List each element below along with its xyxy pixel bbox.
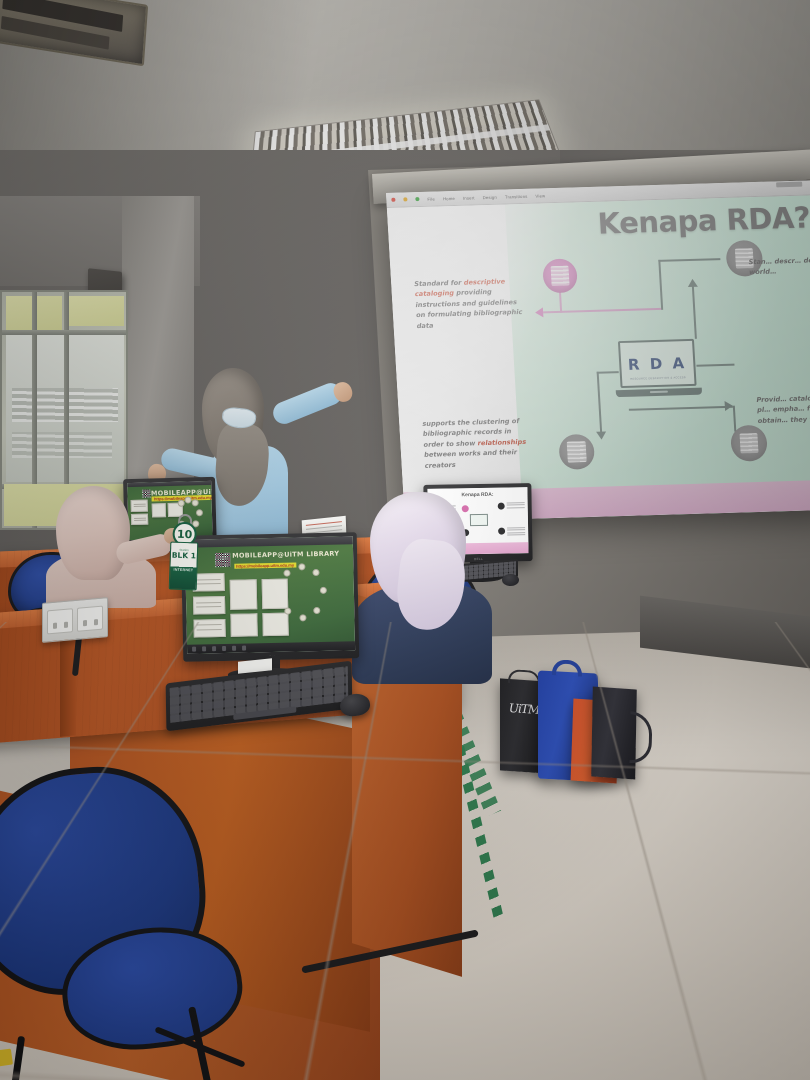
power-outlet-right[interactable] (77, 606, 103, 632)
poster-title-front: MOBILEAPP@UiTM LIBRARY (232, 549, 339, 559)
slide-text-left-bottom: supports the clustering of bibliographic… (422, 416, 533, 471)
foreground-chair[interactable] (0, 768, 238, 1073)
book-node-icon (730, 425, 768, 462)
slide-canvas: Kenapa RDA? R D A (387, 195, 810, 522)
seated-student-left (46, 486, 156, 596)
app-menu-home[interactable]: Home (443, 195, 455, 200)
desk-tag-body: Station BLK 1 INTERNET (169, 542, 199, 591)
app-window-controls[interactable] (776, 182, 802, 188)
slide-text-right-bottom: Provid… catalo… and pl… empha… find, i… … (756, 392, 810, 426)
dark-shopping-bag[interactable] (591, 687, 637, 780)
people-node-icon (558, 434, 595, 470)
student-left-hijab (56, 486, 130, 580)
uitm-bag-logo: UiTM (509, 701, 539, 717)
lab-photo-scene: File Home Insert Design Transitions View… (0, 0, 810, 1080)
seated-student-right (352, 492, 502, 682)
desk-number-tag: 10 Station BLK 1 INTERNET (167, 513, 202, 590)
slide-text-left-top: Standard for descriptive cataloging prov… (414, 276, 525, 331)
yellow-floor-clip (0, 1049, 13, 1068)
mouse-mid[interactable] (502, 574, 519, 586)
desk-power-socket[interactable] (42, 597, 108, 643)
desk-tag-category: INTERNET (170, 567, 196, 572)
app-menu-view[interactable]: View (535, 193, 545, 198)
qr-code-icon-front (215, 552, 230, 567)
app-menu-insert[interactable]: Insert (463, 195, 475, 200)
rda-logo-text: R D A (627, 354, 687, 374)
desk-divider-panel (60, 627, 76, 737)
app-menu-file[interactable]: File (427, 196, 435, 201)
projection-screen: File Home Insert Design Transitions View… (386, 180, 810, 522)
app-menu-transitions[interactable]: Transitions (505, 193, 528, 199)
slide-text-right-top: Stan… descr… desig… world… (748, 255, 810, 278)
slide-title: Kenapa RDA? (597, 200, 810, 240)
mobileapp-poster-front: MOBILEAPP@UiTM LIBRARY https://mobileapp… (185, 536, 355, 653)
desk-tag-block: BLK 1 (171, 552, 197, 560)
document-node-icon (542, 258, 578, 293)
app-menu-design[interactable]: Design (482, 194, 497, 199)
rda-logo-subtitle: RESOURCE DESCRIPTION & ACCESS (622, 376, 694, 381)
rda-laptop-graphic: R D A RESOURCE DESCRIPTION & ACCESS (613, 339, 702, 397)
foreground-monitor[interactable]: MOBILEAPP@UiTM LIBRARY https://mobileapp… (181, 532, 360, 662)
power-outlet-left[interactable] (47, 608, 73, 634)
